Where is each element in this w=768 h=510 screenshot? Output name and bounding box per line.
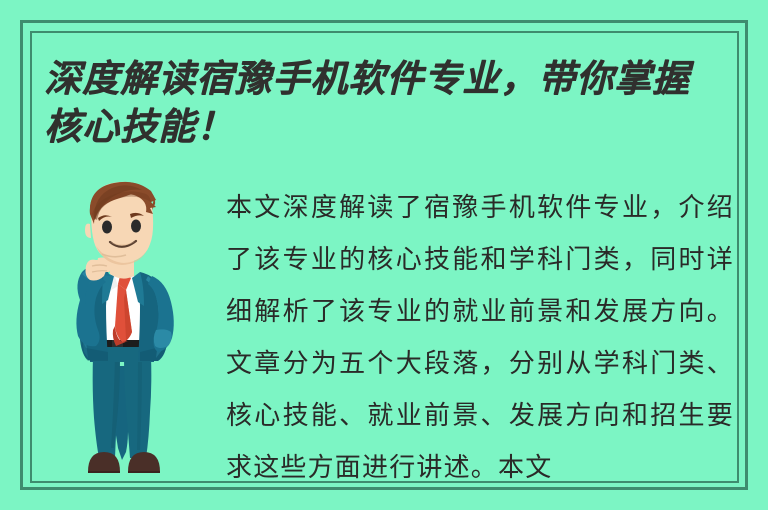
poster-canvas: 深度解读宿豫手机软件专业，带你掌握 核心技能！ 本文深度解读了宿豫手机软件专业，…	[0, 0, 768, 510]
article-summary-text: 本文深度解读了宿豫手机软件专业，介绍了该专业的核心技能和学科门类，同时详细解析了…	[226, 182, 734, 494]
page-title: 深度解读宿豫手机软件专业，带你掌握 核心技能！	[44, 56, 744, 152]
businessman-figure-icon	[52, 180, 214, 480]
eye-left	[102, 221, 112, 234]
eye-right	[131, 220, 141, 233]
thinking-businessman-illustration	[52, 180, 214, 480]
